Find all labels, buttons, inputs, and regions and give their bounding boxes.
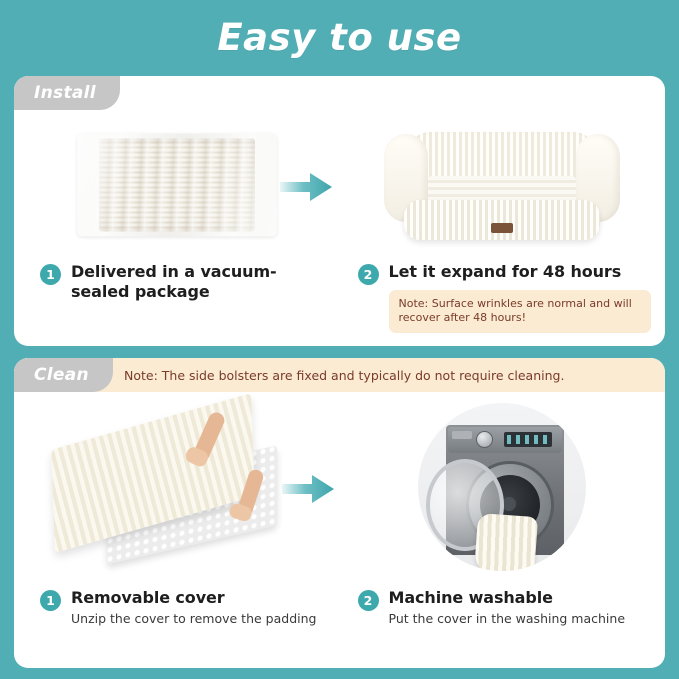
step-text-body: Let it expand for 48 hours Note: Surface… <box>389 262 652 333</box>
install-step-2-column: 2 Let it expand for 48 hours Note: Surfa… <box>340 110 666 346</box>
vacuum-sealed-package-photo <box>14 110 340 260</box>
brand-leather-tag <box>491 223 513 233</box>
step-number-badge: 1 <box>40 264 61 285</box>
clean-step-1-column: 1 Removable cover Unzip the cover to rem… <box>14 392 340 668</box>
detergent-drawer <box>452 431 472 439</box>
washer-display-screen <box>504 432 552 447</box>
washer-dial-icon <box>476 431 493 448</box>
step-title: Removable cover <box>71 588 326 608</box>
washing-machine-photo <box>340 392 666 582</box>
page-title: Easy to use <box>0 0 679 56</box>
expand-note-box: Note: Surface wrinkles are normal and wi… <box>389 290 652 334</box>
clean-tab-label: Clean <box>34 365 89 385</box>
cover-in-washer <box>474 513 538 571</box>
step-title: Let it expand for 48 hours <box>389 262 652 282</box>
install-section-tab: Install <box>14 76 120 110</box>
clean-section-tab: Clean <box>14 358 113 392</box>
install-section-card: Install <box>14 76 665 346</box>
clean-step-1: 1 Removable cover Unzip the cover to rem… <box>40 588 326 626</box>
removable-cover-photo <box>14 392 340 582</box>
pet-bed-illustration <box>382 132 622 244</box>
clean-columns: 1 Removable cover Unzip the cover to rem… <box>14 392 665 668</box>
install-tab-label: Install <box>34 83 96 103</box>
step-title: Machine washable <box>389 588 652 608</box>
arrow-right-icon <box>280 172 332 202</box>
install-step-2: 2 Let it expand for 48 hours Note: Surfa… <box>358 262 652 333</box>
install-columns: 1 Delivered in a vacuum-sealed package <box>14 110 665 346</box>
step-title: Delivered in a vacuum-sealed package <box>71 262 326 301</box>
removable-cover-illustration <box>47 407 307 567</box>
expanded-pet-bed-photo <box>340 110 666 260</box>
vacuum-pack-illustration <box>77 134 277 237</box>
install-step-1: 1 Delivered in a vacuum-sealed package <box>40 262 326 301</box>
step-text-body: Machine washable Put the cover in the wa… <box>389 588 652 626</box>
step-number-badge: 2 <box>358 590 379 611</box>
step-subtitle: Put the cover in the washing machine <box>389 611 652 626</box>
bed-front-bolster <box>404 200 600 240</box>
clean-section-card: Note: The side bolsters are fixed and ty… <box>14 358 665 668</box>
step-subtitle: Unzip the cover to remove the padding <box>71 611 326 626</box>
step-number-badge: 1 <box>40 590 61 611</box>
clean-step-2: 2 Machine washable Put the cover in the … <box>358 588 652 626</box>
install-step-1-column: 1 Delivered in a vacuum-sealed package <box>14 110 340 346</box>
arrow-right-icon <box>282 474 334 504</box>
bag-sheen-overlay <box>77 134 277 237</box>
clean-header-note-text: Note: The side bolsters are fixed and ty… <box>124 368 564 383</box>
clean-step-2-column: 2 Machine washable Put the cover in the … <box>340 392 666 668</box>
step-number-badge: 2 <box>358 264 379 285</box>
step-text-body: Delivered in a vacuum-sealed package <box>71 262 326 301</box>
washing-machine-illustration <box>418 403 586 571</box>
step-text-body: Removable cover Unzip the cover to remov… <box>71 588 326 626</box>
plastic-bag-shape <box>77 134 277 237</box>
